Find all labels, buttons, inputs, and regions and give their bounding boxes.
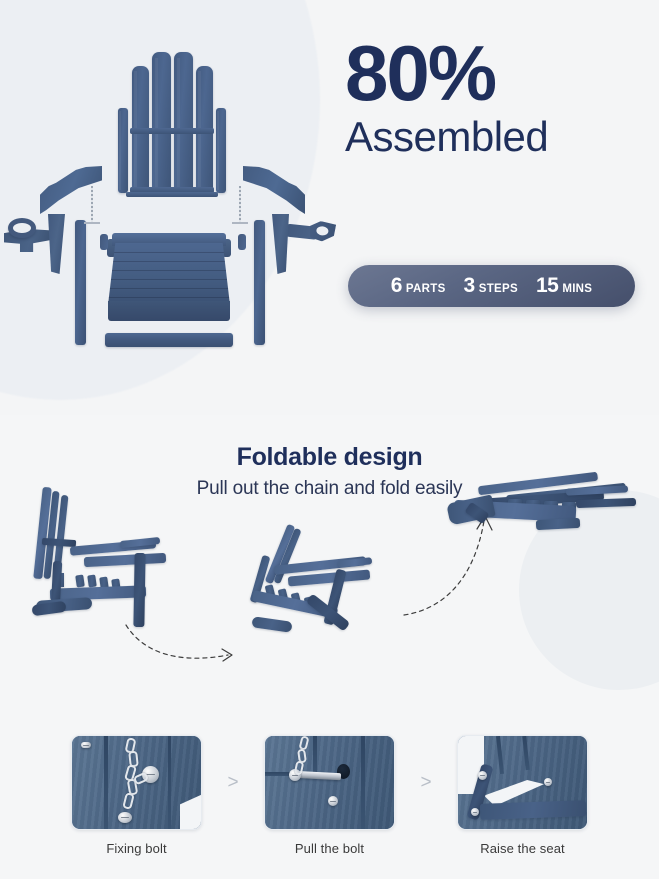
assembly-stats-pill: 6 PARTS 3 STEPS 15 MINS bbox=[348, 265, 635, 307]
foldable-design-section: Foldable design Pull out the chain and f… bbox=[0, 415, 659, 879]
leg-right bbox=[254, 220, 265, 345]
step-separator-2: > bbox=[395, 735, 457, 830]
step-separator-1: > bbox=[202, 735, 264, 830]
cup-holder-left bbox=[4, 216, 54, 256]
chain-right bbox=[239, 186, 241, 222]
chair-mid-fold bbox=[252, 523, 417, 658]
bottom-rail bbox=[105, 333, 233, 347]
connector-block-left bbox=[100, 234, 108, 250]
step-caption: Fixing bolt bbox=[71, 841, 202, 856]
chair-folded-flat bbox=[448, 473, 643, 563]
hero-headline-block: 80% Assembled bbox=[345, 36, 645, 158]
support-bracket-left bbox=[48, 214, 65, 274]
leg-left bbox=[75, 220, 86, 345]
closeup-chain-and-fixing-bolt bbox=[71, 735, 202, 830]
fold-steps-row: Fixing bolt > Pull the bolt > bbox=[0, 735, 659, 875]
stat-mins: 15 MINS bbox=[527, 274, 601, 298]
seat-deck-assembly bbox=[108, 233, 230, 325]
assembled-label: Assembled bbox=[345, 116, 645, 158]
chair-unfolded bbox=[28, 487, 218, 657]
fold-arrow-1 bbox=[124, 619, 244, 667]
step-caption: Raise the seat bbox=[457, 841, 588, 856]
closeup-bolt-pulled-out bbox=[264, 735, 395, 830]
closeup-seat-raised-hinge bbox=[457, 735, 588, 830]
stat-mins-value: 15 bbox=[536, 274, 558, 298]
stat-steps: 3 STEPS bbox=[455, 274, 527, 298]
step-fixing-bolt: Fixing bolt bbox=[71, 735, 202, 856]
chain-left bbox=[91, 186, 93, 222]
stat-parts: 6 PARTS bbox=[382, 274, 455, 298]
cup-holder-right bbox=[281, 215, 336, 252]
foldable-heading: Foldable design bbox=[0, 443, 659, 472]
stat-mins-label: MINS bbox=[562, 283, 592, 295]
backrest-slats-group bbox=[118, 40, 226, 205]
percent-assembled-value: 80% bbox=[345, 36, 645, 110]
step-pull-the-bolt: Pull the bolt bbox=[264, 735, 395, 856]
support-bracket-right bbox=[272, 214, 289, 274]
stat-steps-value: 3 bbox=[464, 274, 475, 298]
connector-block-right bbox=[238, 234, 246, 250]
stat-steps-label: STEPS bbox=[479, 283, 518, 295]
step-caption: Pull the bolt bbox=[264, 841, 395, 856]
step-raise-the-seat: Raise the seat bbox=[457, 735, 588, 856]
stat-parts-value: 6 bbox=[391, 274, 402, 298]
screw-left bbox=[84, 222, 100, 224]
arm-rest-right bbox=[243, 166, 305, 214]
exploded-chair-parts-diagram bbox=[0, 18, 340, 378]
hero-assembled-section: 80% Assembled 6 PARTS 3 STEPS 15 MINS bbox=[0, 0, 659, 415]
stat-parts-label: PARTS bbox=[406, 283, 446, 295]
screw-right bbox=[232, 222, 248, 224]
